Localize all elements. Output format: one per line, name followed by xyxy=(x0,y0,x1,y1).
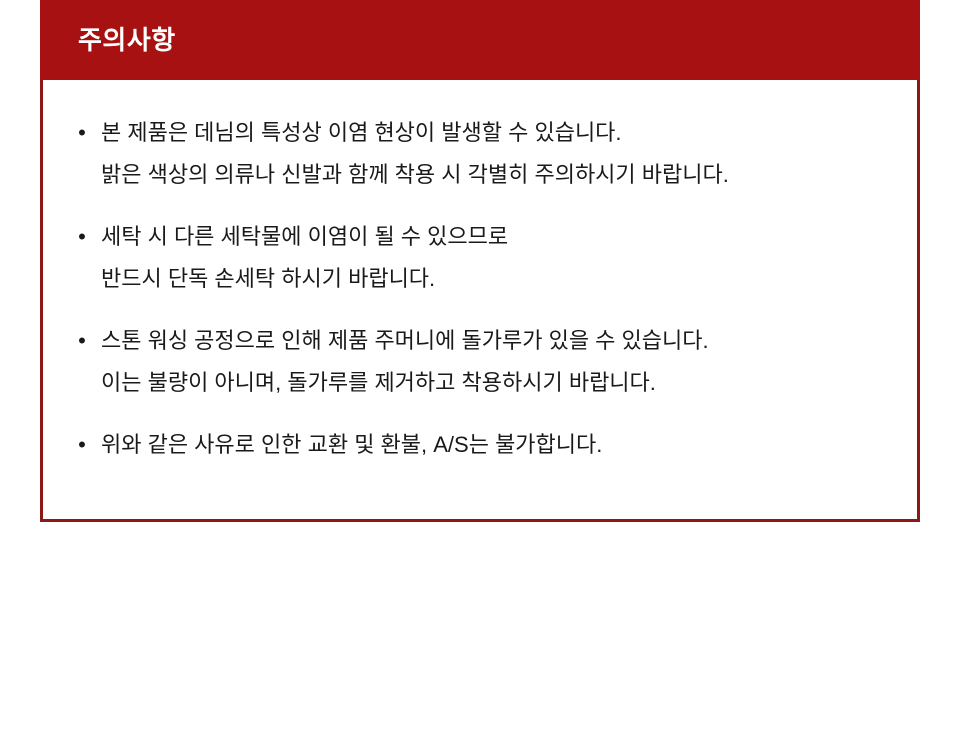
list-item: • 본 제품은 데님의 특성상 이염 현상이 발생할 수 있습니다. 밝은 색상… xyxy=(69,112,891,196)
notice-header: 주의사항 xyxy=(40,0,920,80)
notice-text-line: 밝은 색상의 의류나 신발과 함께 착용 시 각별히 주의하시기 바랍니다. xyxy=(101,154,891,196)
notice-body: • 본 제품은 데님의 특성상 이염 현상이 발생할 수 있습니다. 밝은 색상… xyxy=(40,80,920,522)
list-item: • 세탁 시 다른 세탁물에 이염이 될 수 있으므로 반드시 단독 손세탁 하… xyxy=(69,216,891,300)
notice-card: 주의사항 • 본 제품은 데님의 특성상 이염 현상이 발생할 수 있습니다. … xyxy=(40,0,920,522)
notice-text-line: 스톤 워싱 공정으로 인해 제품 주머니에 돌가루가 있을 수 있습니다. xyxy=(101,320,891,362)
list-item: • 스톤 워싱 공정으로 인해 제품 주머니에 돌가루가 있을 수 있습니다. … xyxy=(69,320,891,404)
bullet-icon: • xyxy=(75,424,89,466)
bullet-icon: • xyxy=(75,320,89,362)
notice-text-line: 위와 같은 사유로 인한 교환 및 환불, A/S는 불가합니다. xyxy=(101,424,891,466)
bullet-icon: • xyxy=(75,112,89,154)
list-item: • 위와 같은 사유로 인한 교환 및 환불, A/S는 불가합니다. xyxy=(69,424,891,466)
notice-text-line: 세탁 시 다른 세탁물에 이염이 될 수 있으므로 xyxy=(101,216,891,258)
notice-list: • 본 제품은 데님의 특성상 이염 현상이 발생할 수 있습니다. 밝은 색상… xyxy=(69,112,891,466)
page-title: 주의사항 xyxy=(78,27,176,53)
notice-text-line: 이는 불량이 아니며, 돌가루를 제거하고 착용하시기 바랍니다. xyxy=(101,362,891,404)
notice-text-line: 본 제품은 데님의 특성상 이염 현상이 발생할 수 있습니다. xyxy=(101,112,891,154)
notice-text-line: 반드시 단독 손세탁 하시기 바랍니다. xyxy=(101,258,891,300)
bullet-icon: • xyxy=(75,216,89,258)
